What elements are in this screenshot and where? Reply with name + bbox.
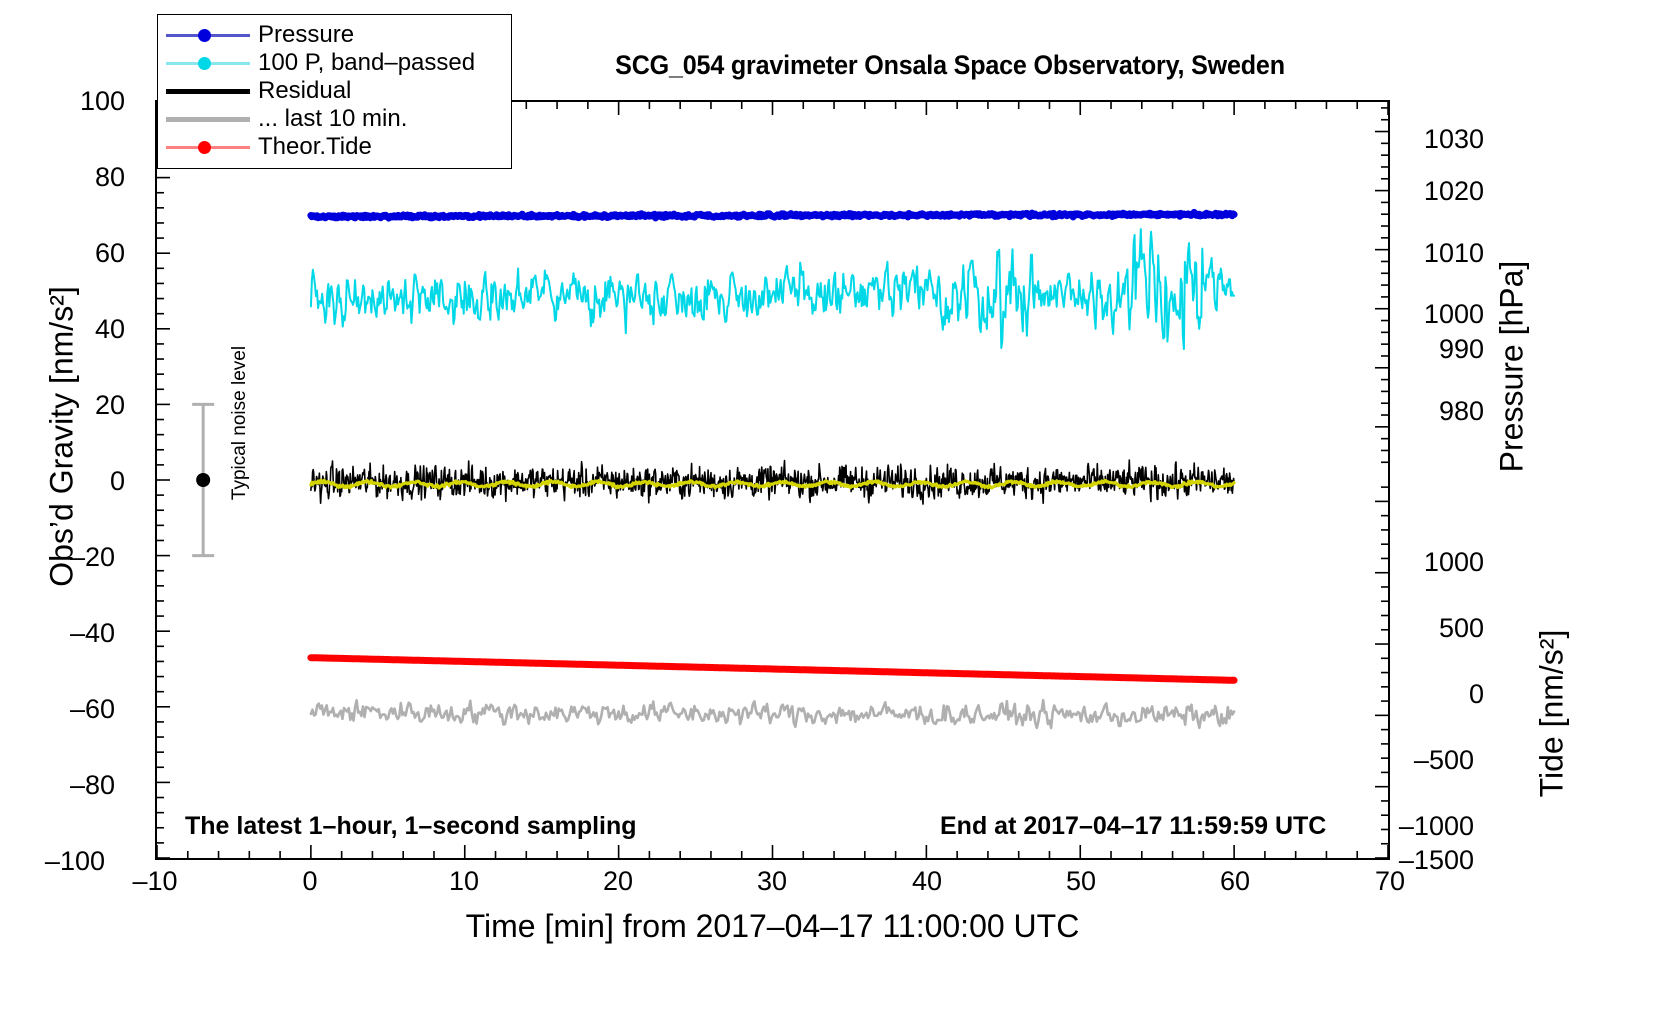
y-tick-left-4: 20 xyxy=(45,390,125,421)
y-tick-tide-0: 0 xyxy=(1404,679,1484,710)
y-tick-pressure-990: 990 xyxy=(1404,334,1484,365)
x-tick-70: 70 xyxy=(1345,866,1435,897)
page-title: SCG_054 gravimeter Onsala Space Observat… xyxy=(550,50,1350,81)
y-tick-left-3: 40 xyxy=(45,314,125,345)
x-axis-label: Time [min] from 2017–04–17 11:00:00 UTC xyxy=(155,908,1390,945)
legend-label-bandpassed: 100 P, band–passed xyxy=(258,49,475,77)
y-tick-pressure-980: 980 xyxy=(1404,396,1484,427)
y-tick-left-9: –80 xyxy=(35,770,115,801)
y-tick-left-7: –40 xyxy=(35,618,115,649)
y-tick-left-2: 60 xyxy=(45,238,125,269)
legend-item-pressure[interactable]: Pressure xyxy=(158,21,511,49)
legend-item-residual[interactable]: Residual xyxy=(158,77,511,105)
x-tick-30: 30 xyxy=(727,866,817,897)
y-tick-pressure-1030: 1030 xyxy=(1404,124,1484,155)
y-tick-pressure-1000: 1000 xyxy=(1404,299,1484,330)
legend-label-pressure: Pressure xyxy=(258,21,354,49)
annotation-end-time: End at 2017–04–17 11:59:59 UTC xyxy=(940,812,1326,841)
y-tick-left-5: 0 xyxy=(45,466,125,497)
legend-label-residual: Residual xyxy=(258,77,351,105)
legend-item-last10[interactable]: ... last 10 min. xyxy=(158,105,511,133)
legend-label-last10: ... last 10 min. xyxy=(258,105,407,133)
y-axis-tide-label: Tide [nm/s²] xyxy=(1534,589,1571,839)
y-tick-left-10: –100 xyxy=(25,846,105,877)
legend-swatch-theortide xyxy=(158,133,258,161)
y-tick-left-0: 100 xyxy=(45,86,125,117)
y-axis-left-label: Obs’d Gravity [nm/s²] xyxy=(44,207,81,667)
legend-swatch-residual xyxy=(158,77,258,105)
legend-label-theortide: Theor.Tide xyxy=(258,133,372,161)
noise-level-label: Typical noise level xyxy=(229,323,251,523)
legend-swatch-pressure xyxy=(158,21,258,49)
y-tick-pressure-1010: 1010 xyxy=(1404,238,1484,269)
legend-item-theortide[interactable]: Theor.Tide xyxy=(158,133,511,161)
legend-swatch-bandpassed xyxy=(158,49,258,77)
y-axis-pressure-label: Pressure [hPa] xyxy=(1494,217,1531,517)
y-tick-pressure-1020: 1020 xyxy=(1404,176,1484,207)
plot-canvas xyxy=(157,102,1388,858)
x-tick-60: 60 xyxy=(1190,866,1280,897)
x-tick-40: 40 xyxy=(882,866,972,897)
y-tick-tide-n500: –500 xyxy=(1394,745,1474,776)
plot-area xyxy=(155,100,1390,860)
x-tick-20: 20 xyxy=(573,866,663,897)
annotation-sampling: The latest 1–hour, 1–second sampling xyxy=(185,812,637,841)
x-tick-50: 50 xyxy=(1036,866,1126,897)
y-tick-tide-1000: 1000 xyxy=(1404,547,1484,578)
legend-item-bandpassed[interactable]: 100 P, band–passed xyxy=(158,49,511,77)
y-tick-left-8: –60 xyxy=(35,694,115,725)
legend-swatch-last10 xyxy=(158,105,258,133)
legend: Pressure 100 P, band–passed Residual ...… xyxy=(157,14,512,169)
y-tick-tide-500: 500 xyxy=(1404,613,1484,644)
x-tick-0: 0 xyxy=(265,866,355,897)
y-tick-left-6: –20 xyxy=(35,542,115,573)
y-tick-tide-n1000: –1000 xyxy=(1394,811,1474,842)
x-tick-n10: –10 xyxy=(110,866,200,897)
x-tick-10: 10 xyxy=(419,866,509,897)
y-tick-left-1: 80 xyxy=(45,162,125,193)
